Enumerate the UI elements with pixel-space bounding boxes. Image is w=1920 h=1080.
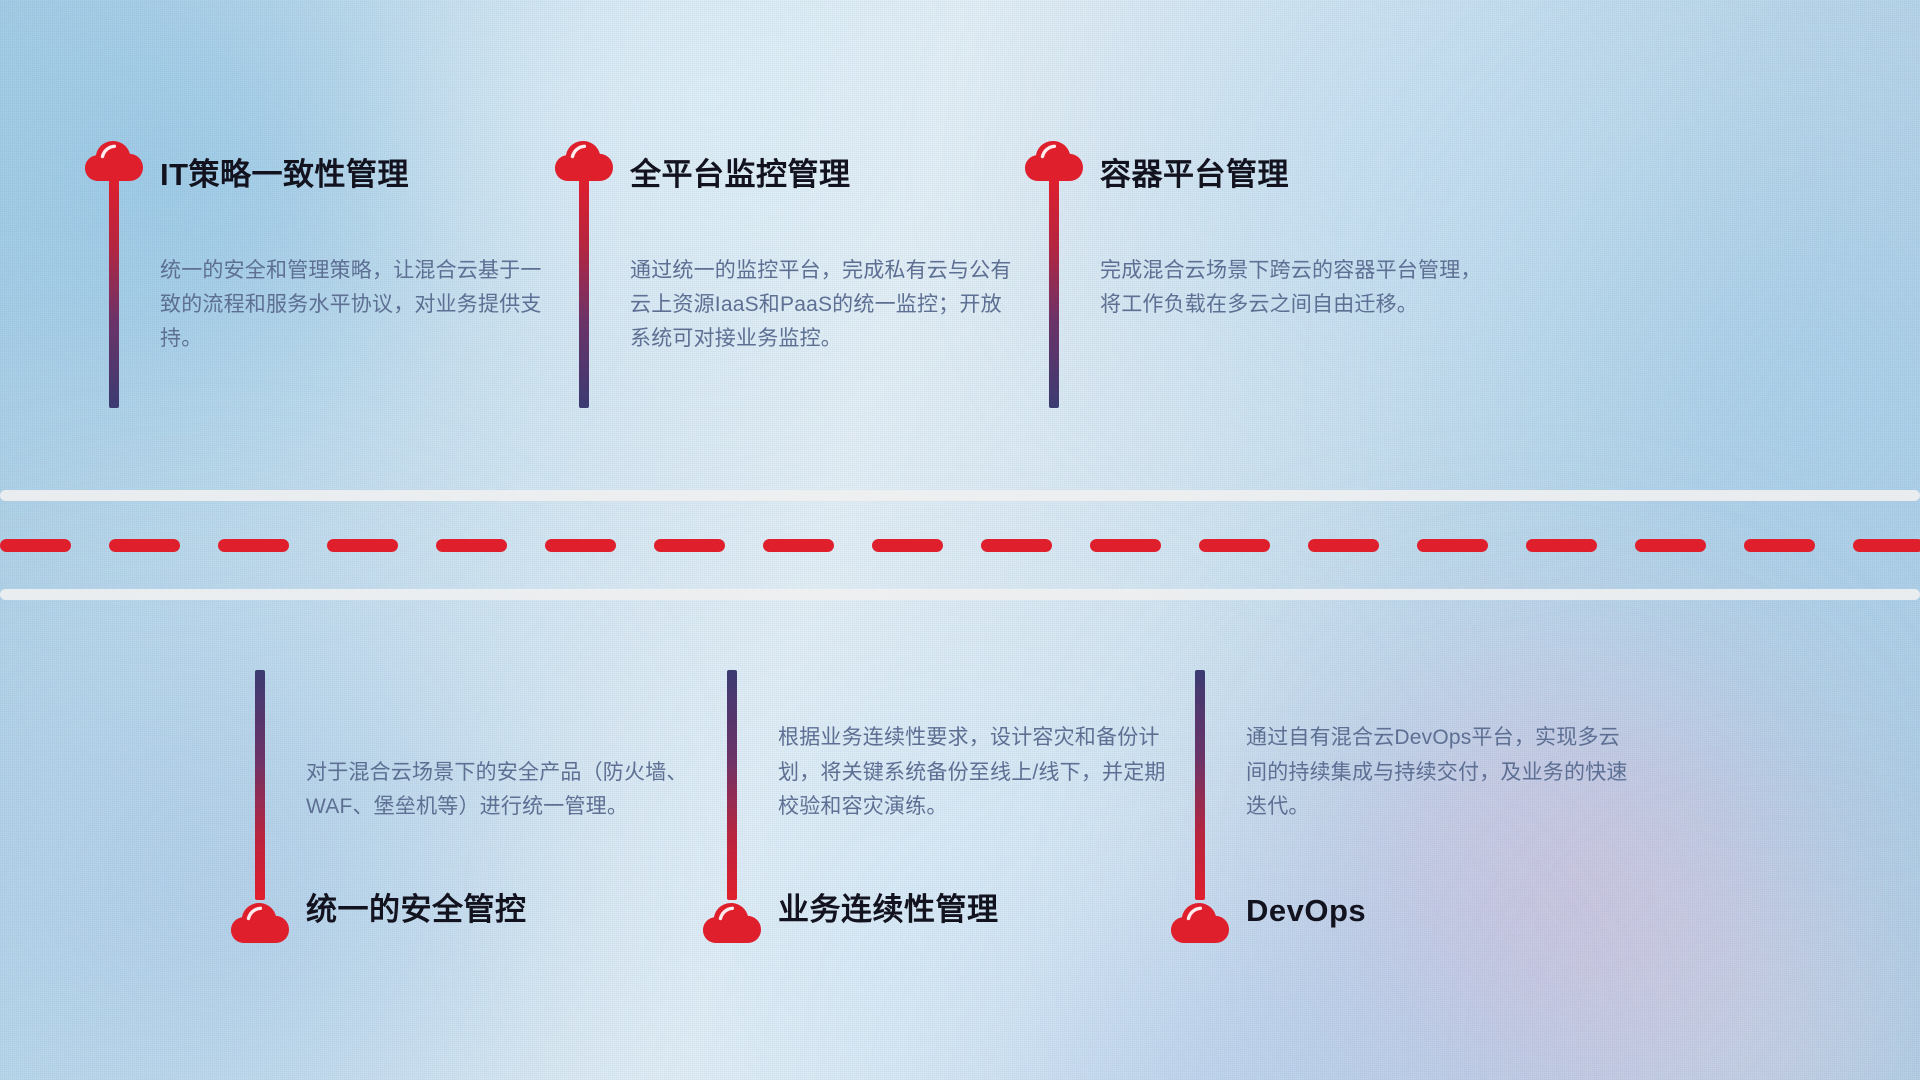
road-center-dashed-line: [0, 539, 1920, 552]
road-dash-segment: [654, 539, 725, 552]
top-card-body: 完成混合云场景下跨云的容器平台管理，将工作负载在多云之间自由迁移。: [1100, 254, 1490, 322]
cloud-pin-icon: [1168, 896, 1232, 944]
bottom-card-title: 业务连续性管理: [778, 884, 999, 929]
card-stem-line: [1049, 178, 1059, 408]
top-card-body: 统一的安全和管理策略，让混合云基于一致的流程和服务水平协议，对业务提供支持。: [160, 254, 550, 357]
road-dash-segment: [327, 539, 398, 552]
bottom-card-body: 通过自有混合云DevOps平台，实现多云间的持续集成与持续交付，及业务的快速迭代…: [1246, 721, 1636, 824]
road-dash-segment: [981, 539, 1052, 552]
card-stem-line: [109, 178, 119, 408]
bottom-card-2[interactable]: 业务连续性管理 根据业务连续性要求，设计容灾和备份计划，将关键系统备份至线上/线…: [700, 634, 1140, 944]
road-edge-line-top: [0, 490, 1920, 501]
top-card-title: 全平台监控管理: [630, 149, 851, 194]
road-dash-segment: [109, 539, 180, 552]
card-stem-line: [255, 670, 265, 900]
top-card-2[interactable]: 全平台监控管理 通过统一的监控平台，完成私有云与公有云上资源IaaS和PaaS的…: [552, 134, 992, 182]
card-stem-line: [579, 178, 589, 408]
card-stem-line: [1195, 670, 1205, 900]
road-dash-segment: [1199, 539, 1270, 552]
road-dash-segment: [1417, 539, 1488, 552]
road-dash-segment: [1526, 539, 1597, 552]
cloud-pin-icon: [1022, 134, 1086, 182]
top-card-body: 通过统一的监控平台，完成私有云与公有云上资源IaaS和PaaS的统一监控；开放系…: [630, 254, 1020, 357]
bottom-card-1[interactable]: 统一的安全管控 对于混合云场景下的安全产品（防火墙、WAF、堡垒机等）进行统一管…: [228, 634, 668, 944]
road-dash-segment: [545, 539, 616, 552]
road-divider: [0, 490, 1920, 600]
cloud-pin-icon: [228, 896, 292, 944]
cloud-pin-icon: [700, 896, 764, 944]
bottom-card-body: 对于混合云场景下的安全产品（防火墙、WAF、堡垒机等）进行统一管理。: [306, 756, 696, 824]
top-card-title: IT策略一致性管理: [160, 149, 409, 194]
road-dash-segment: [1853, 539, 1920, 552]
road-dash-segment: [872, 539, 943, 552]
cloud-pin-icon: [82, 134, 146, 182]
road-dash-segment: [1090, 539, 1161, 552]
bottom-card-body: 根据业务连续性要求，设计容灾和备份计划，将关键系统备份至线上/线下，并定期校验和…: [778, 721, 1168, 824]
top-card-1[interactable]: IT策略一致性管理 统一的安全和管理策略，让混合云基于一致的流程和服务水平协议，…: [82, 134, 522, 182]
road-dash-segment: [436, 539, 507, 552]
road-dash-segment: [218, 539, 289, 552]
bottom-card-title: 统一的安全管控: [306, 884, 527, 929]
road-dash-segment: [763, 539, 834, 552]
cloud-pin-holder: [700, 896, 764, 944]
bottom-card-title: DevOps: [1246, 893, 1366, 929]
road-dash-segment: [1635, 539, 1706, 552]
bottom-card-3[interactable]: DevOps 通过自有混合云DevOps平台，实现多云间的持续集成与持续交付，及…: [1168, 634, 1608, 944]
card-stem-line: [727, 670, 737, 900]
road-dash-segment: [1744, 539, 1815, 552]
road-edge-line-bottom: [0, 589, 1920, 600]
cloud-pin-icon: [552, 134, 616, 182]
road-dash-segment: [0, 539, 71, 552]
top-card-3[interactable]: 容器平台管理 完成混合云场景下跨云的容器平台管理，将工作负载在多云之间自由迁移。: [1022, 134, 1462, 182]
cloud-pin-holder: [228, 896, 292, 944]
top-card-title: 容器平台管理: [1100, 149, 1289, 194]
road-dash-segment: [1308, 539, 1379, 552]
cloud-pin-holder: [1168, 896, 1232, 944]
